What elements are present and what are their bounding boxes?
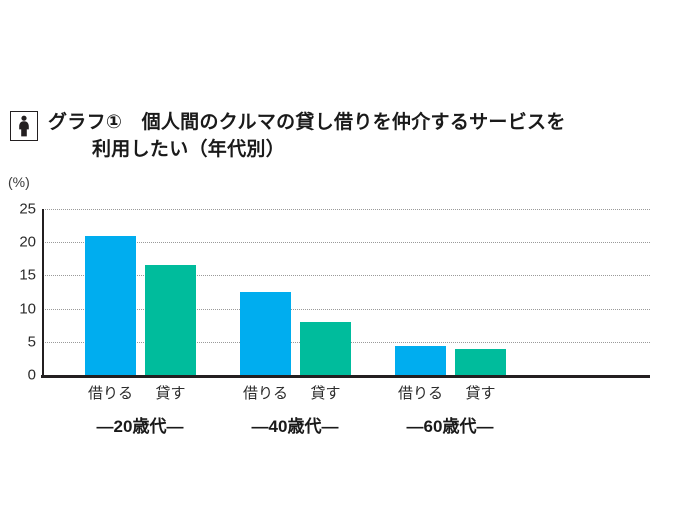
bar-lend — [145, 265, 196, 375]
category-label: 借りる — [243, 382, 288, 403]
bar-borrow — [240, 292, 291, 375]
page-title: グラフ① 個人間のクルマの貸し借りを仲介するサービスを 利用したい（年代別） — [48, 110, 566, 164]
person-pictogram-icon — [10, 111, 38, 141]
title-line-1: グラフ① 個人間のクルマの貸し借りを仲介するサービスを — [48, 110, 566, 137]
chart-title-block: グラフ① 個人間のクルマの貸し借りを仲介するサービスを 利用したい（年代別） — [10, 110, 566, 164]
title-line-2: 利用したい（年代別） — [48, 137, 566, 164]
category-label: 貸す — [310, 382, 340, 403]
y-axis-unit-label: (%) — [8, 174, 30, 190]
chart-page: グラフ① 個人間のクルマの貸し借りを仲介するサービスを 利用したい（年代別） (… — [0, 0, 680, 510]
x-axis-line — [41, 375, 650, 378]
category-label: 貸す — [155, 382, 185, 403]
bar-borrow — [85, 236, 136, 375]
bar-borrow — [395, 346, 446, 375]
category-label: 借りる — [88, 382, 133, 403]
bar-lend — [300, 322, 351, 375]
bar-lend — [455, 349, 506, 375]
group-label: ―40歳代― — [252, 412, 339, 437]
group-label: ―60歳代― — [407, 412, 494, 437]
chart-plot-area: 2520151050 借りる貸す借りる貸す借りる貸す ―20歳代――40歳代――… — [0, 200, 680, 435]
bars-layer — [0, 209, 680, 375]
category-label: 借りる — [398, 382, 443, 403]
category-label: 貸す — [465, 382, 495, 403]
group-label: ―20歳代― — [97, 412, 184, 437]
